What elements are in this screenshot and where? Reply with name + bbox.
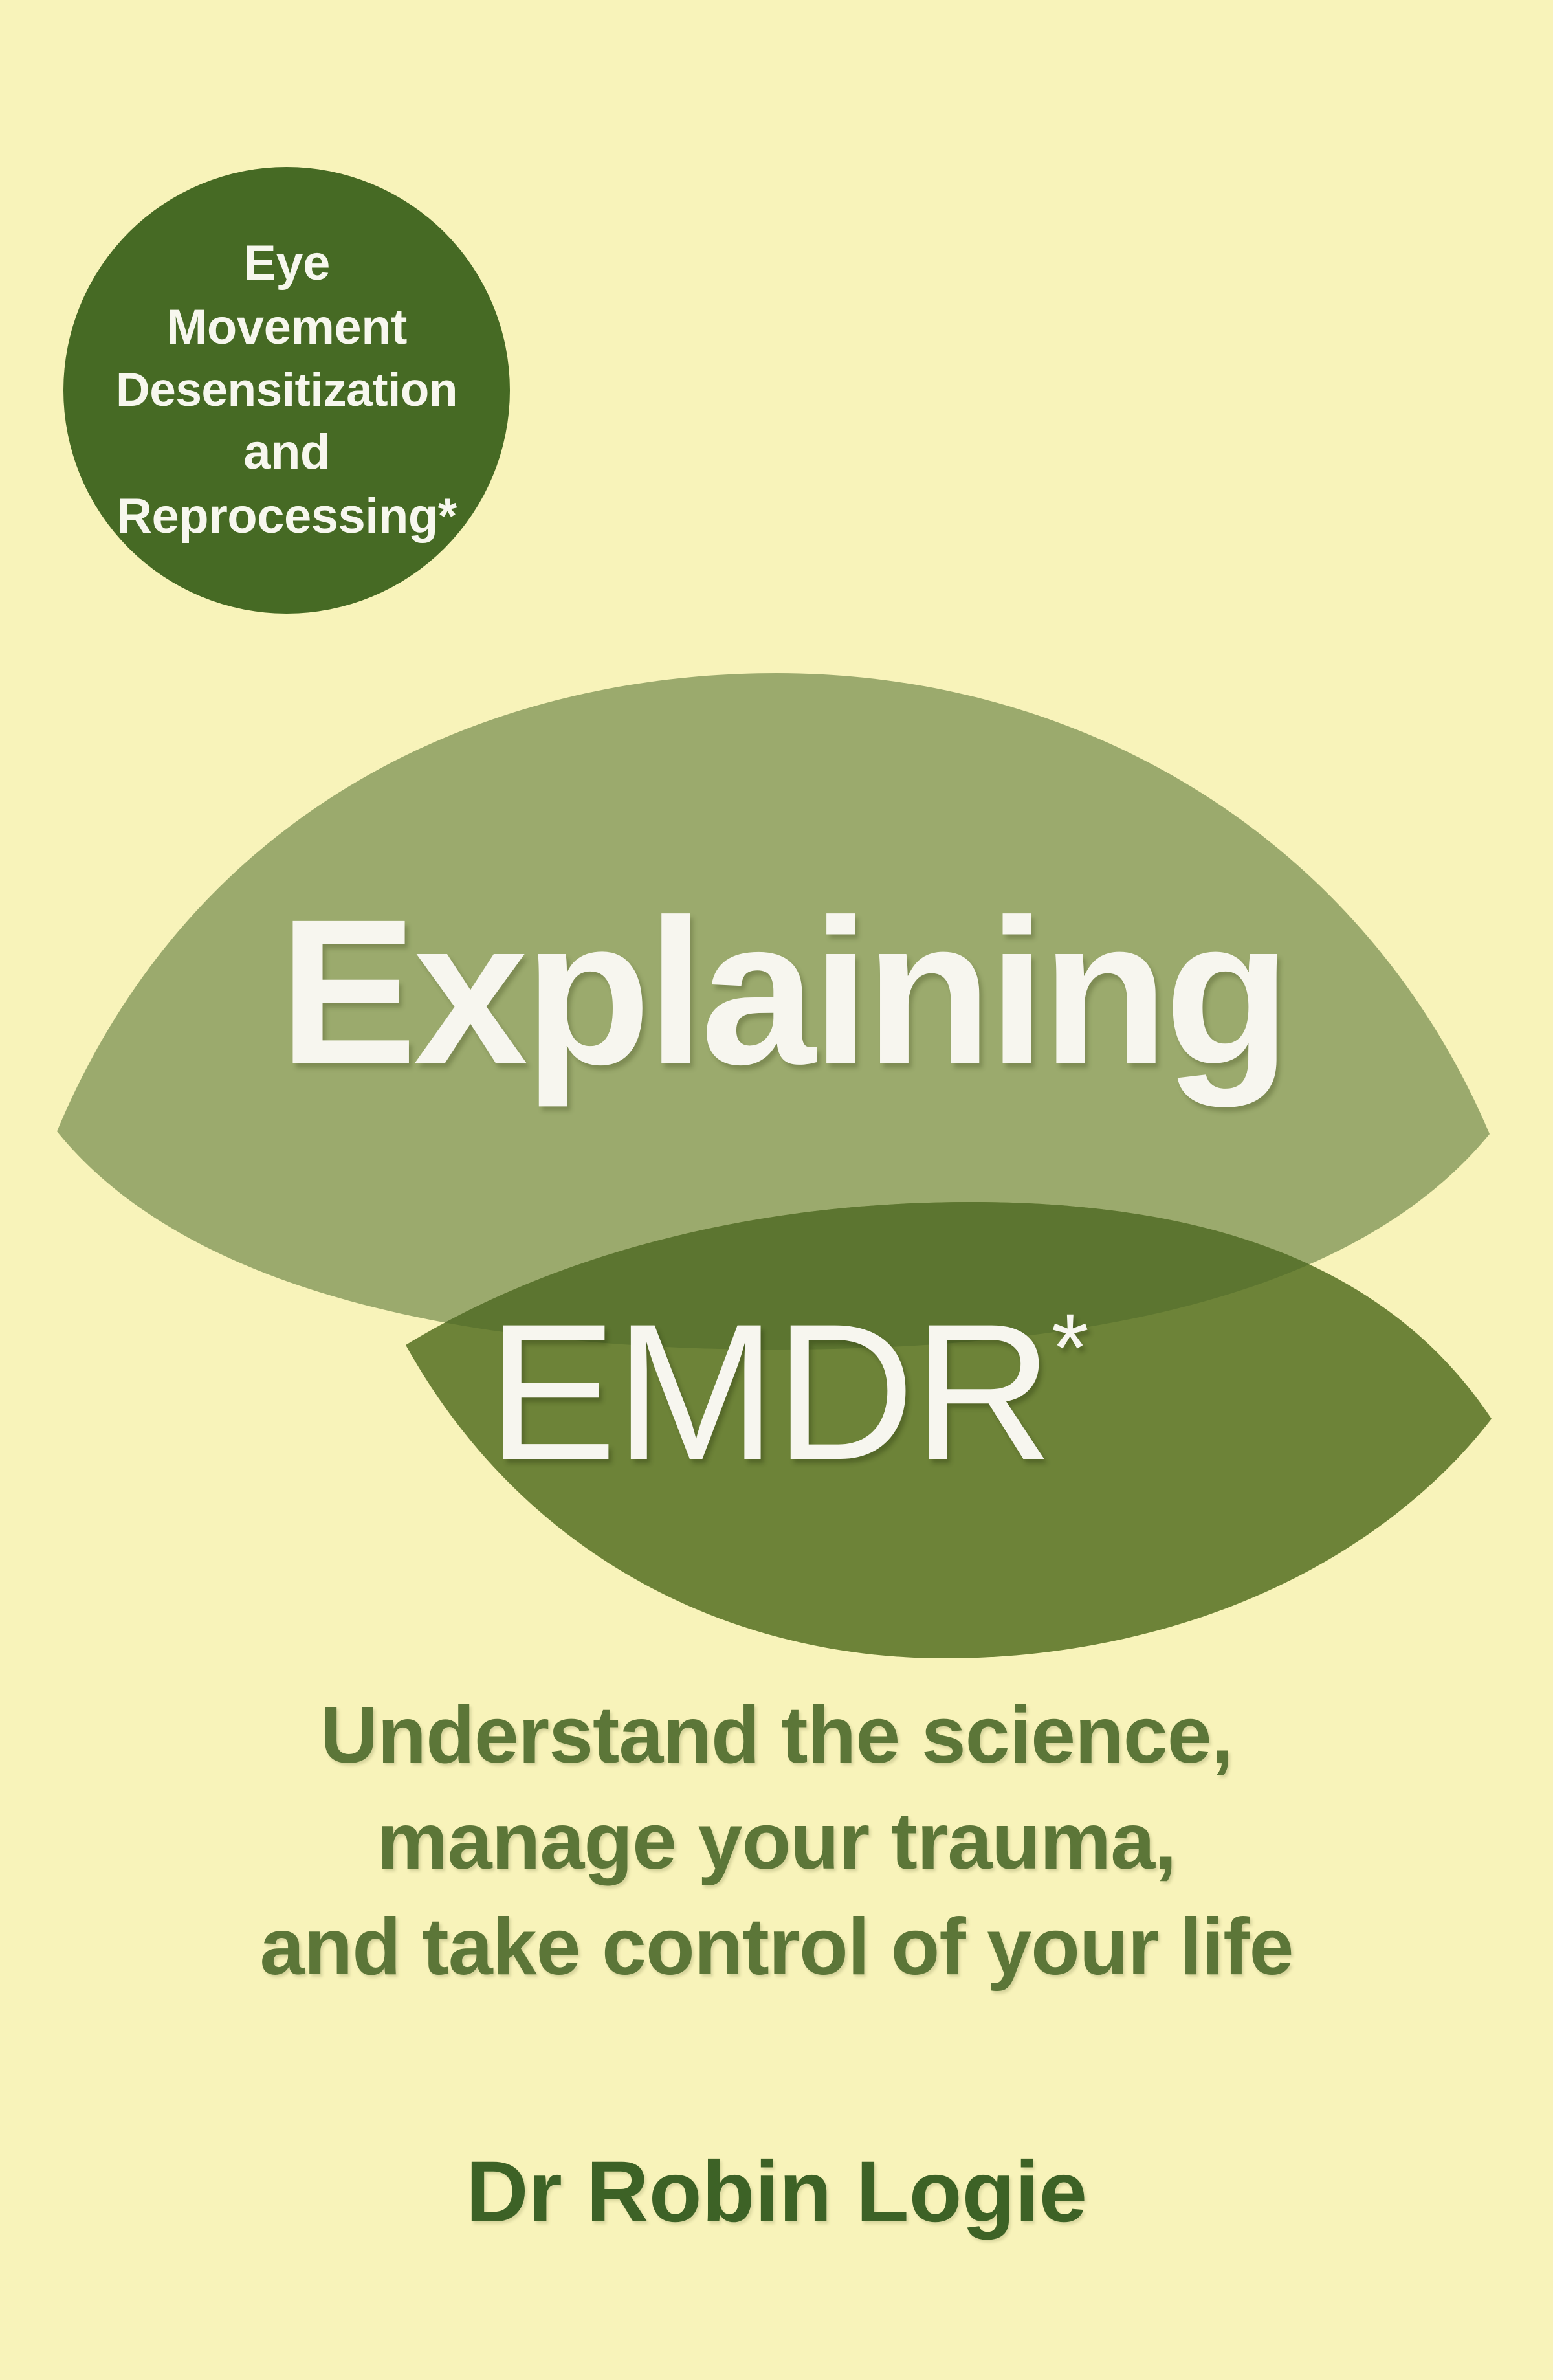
subtitle-line-3: and take control of your life bbox=[0, 1895, 1553, 2001]
title-line-explaining: Explaining bbox=[0, 888, 1553, 1095]
subtitle-line-2: manage your trauma, bbox=[0, 1789, 1553, 1895]
badge-line-1: Eye bbox=[243, 232, 330, 296]
badge-line-4: and bbox=[243, 421, 330, 485]
title-line-emdr: EMDR* bbox=[0, 1295, 1553, 1489]
badge-line-2: Movement bbox=[166, 296, 407, 360]
book-cover: Eye Movement Desensitization and Reproce… bbox=[0, 0, 1553, 2380]
title-emdr-text: EMDR bbox=[487, 1283, 1051, 1500]
subtitle: Understand the science, manage your trau… bbox=[0, 1683, 1553, 2001]
title-emdr-asterisk: * bbox=[1051, 1293, 1088, 1402]
badge-line-3: Desensitization bbox=[116, 360, 457, 421]
subtitle-line-1: Understand the science, bbox=[0, 1683, 1553, 1789]
badge-line-5: Reprocessing* bbox=[116, 485, 457, 549]
author-name: Dr Robin Logie bbox=[0, 2142, 1553, 2241]
emdr-acronym-badge: Eye Movement Desensitization and Reproce… bbox=[63, 167, 510, 614]
